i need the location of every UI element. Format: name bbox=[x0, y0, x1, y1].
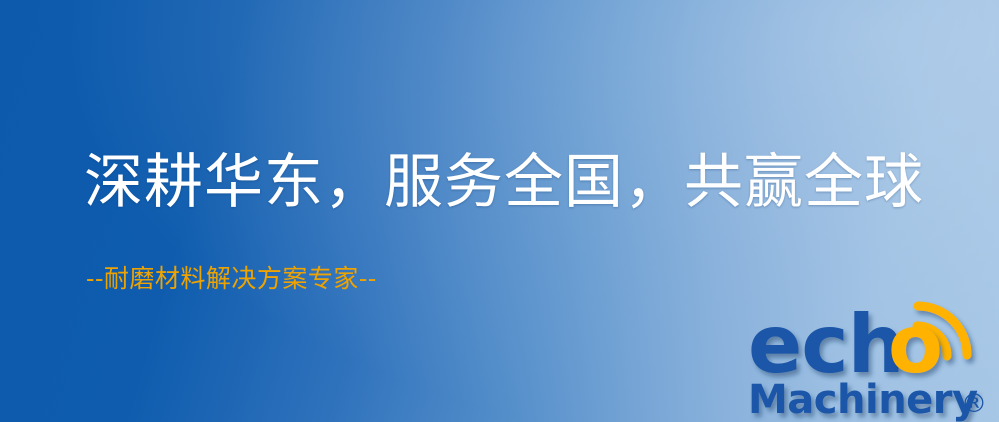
registered-trademark-icon: ® bbox=[961, 389, 987, 419]
banner-headline: 深耕华东，服务全国，共赢全球 bbox=[84, 152, 924, 211]
logo-tagline: Machinery bbox=[748, 377, 978, 422]
promo-banner: 深耕华东，服务全国，共赢全球 --耐磨材料解决方案专家-- ech o bbox=[0, 0, 999, 422]
banner-subtitle: --耐磨材料解决方案专家-- bbox=[86, 266, 377, 291]
echo-machinery-logo: ech o Machinery ® bbox=[748, 296, 999, 422]
